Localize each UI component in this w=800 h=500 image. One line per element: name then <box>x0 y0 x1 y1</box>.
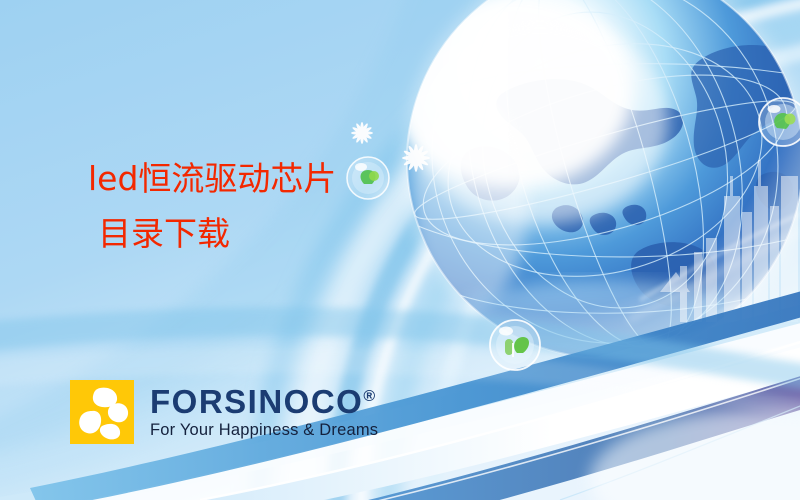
forsinoco-pinwheel-mark <box>70 380 134 444</box>
brand-name: FORSINOCO® <box>150 385 378 418</box>
banner-canvas: led恒流驱动芯片 目录下载 FORSINOCO® For Your Happi… <box>0 0 800 500</box>
logo-wordmark: FORSINOCO® For Your Happiness & Dreams <box>150 385 378 439</box>
company-logo: FORSINOCO® For Your Happiness & Dreams <box>70 380 378 444</box>
brand-name-text: FORSINOCO <box>150 383 363 420</box>
bubble-eco-2 <box>490 320 540 370</box>
registered-trademark-icon: ® <box>363 388 375 405</box>
bubble-eco-1 <box>347 157 389 199</box>
bubble-eco-3 <box>759 98 800 146</box>
pinwheel-petals-icon <box>70 380 134 444</box>
brand-tagline: For Your Happiness & Dreams <box>150 422 378 439</box>
